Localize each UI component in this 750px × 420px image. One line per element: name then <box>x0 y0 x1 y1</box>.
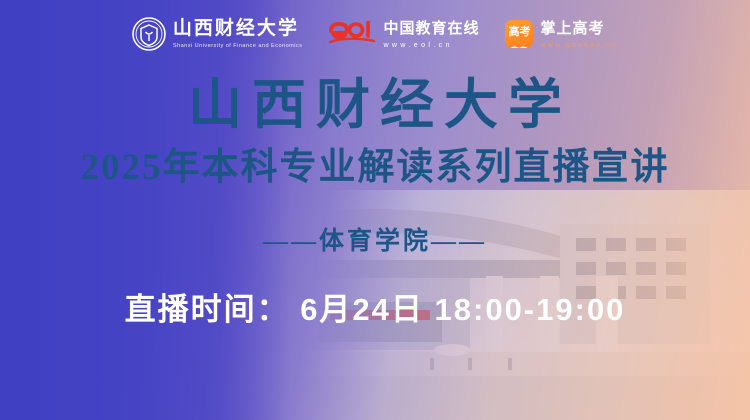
university-name-en: Shanxi University of Finance and Economi… <box>173 43 303 49</box>
page-subtitle: 2025年本科专业解读系列直播宣讲 <box>81 149 670 186</box>
university-logo-text: 山西财经大学 Shanxi University of Finance and … <box>173 19 303 49</box>
logo-bar: 山西财经大学 Shanxi University of Finance and … <box>0 13 750 55</box>
gaokao-app-icon: 高考 <box>505 20 533 48</box>
gaokao-logo-text: 掌上高考 www.gaokao.cn <box>540 20 618 49</box>
eol-logo: 中国教育在线 www.eol.cn <box>328 20 479 49</box>
page-title: 山西财经大学 <box>178 78 572 132</box>
eol-wordmark-icon <box>328 21 376 47</box>
live-stream-poster: 山西财经大学 Shanxi University of Finance and … <box>0 0 750 420</box>
university-crest-icon <box>132 17 166 51</box>
eol-logo-text: 中国教育在线 www.eol.cn <box>383 20 479 49</box>
university-name-cn: 山西财经大学 <box>173 18 299 39</box>
gaokao-url: www.gaokao.cn <box>540 42 618 49</box>
university-logo: 山西财经大学 Shanxi University of Finance and … <box>132 17 303 51</box>
gaokao-name-cn: 掌上高考 <box>540 20 604 37</box>
eol-name-cn: 中国教育在线 <box>383 20 479 37</box>
poster-content: 山西财经大学 2025年本科专业解读系列直播宣讲 ——体育学院—— 直播时间： … <box>0 0 750 420</box>
live-time-text: 直播时间： 6月24日 18:00-19:00 <box>125 294 626 325</box>
gaokao-logo: 高考 掌上高考 www.gaokao.cn <box>505 20 618 49</box>
open-book-icon <box>508 37 530 45</box>
college-name: ——体育学院—— <box>263 229 487 254</box>
eol-url: www.eol.cn <box>383 42 479 49</box>
